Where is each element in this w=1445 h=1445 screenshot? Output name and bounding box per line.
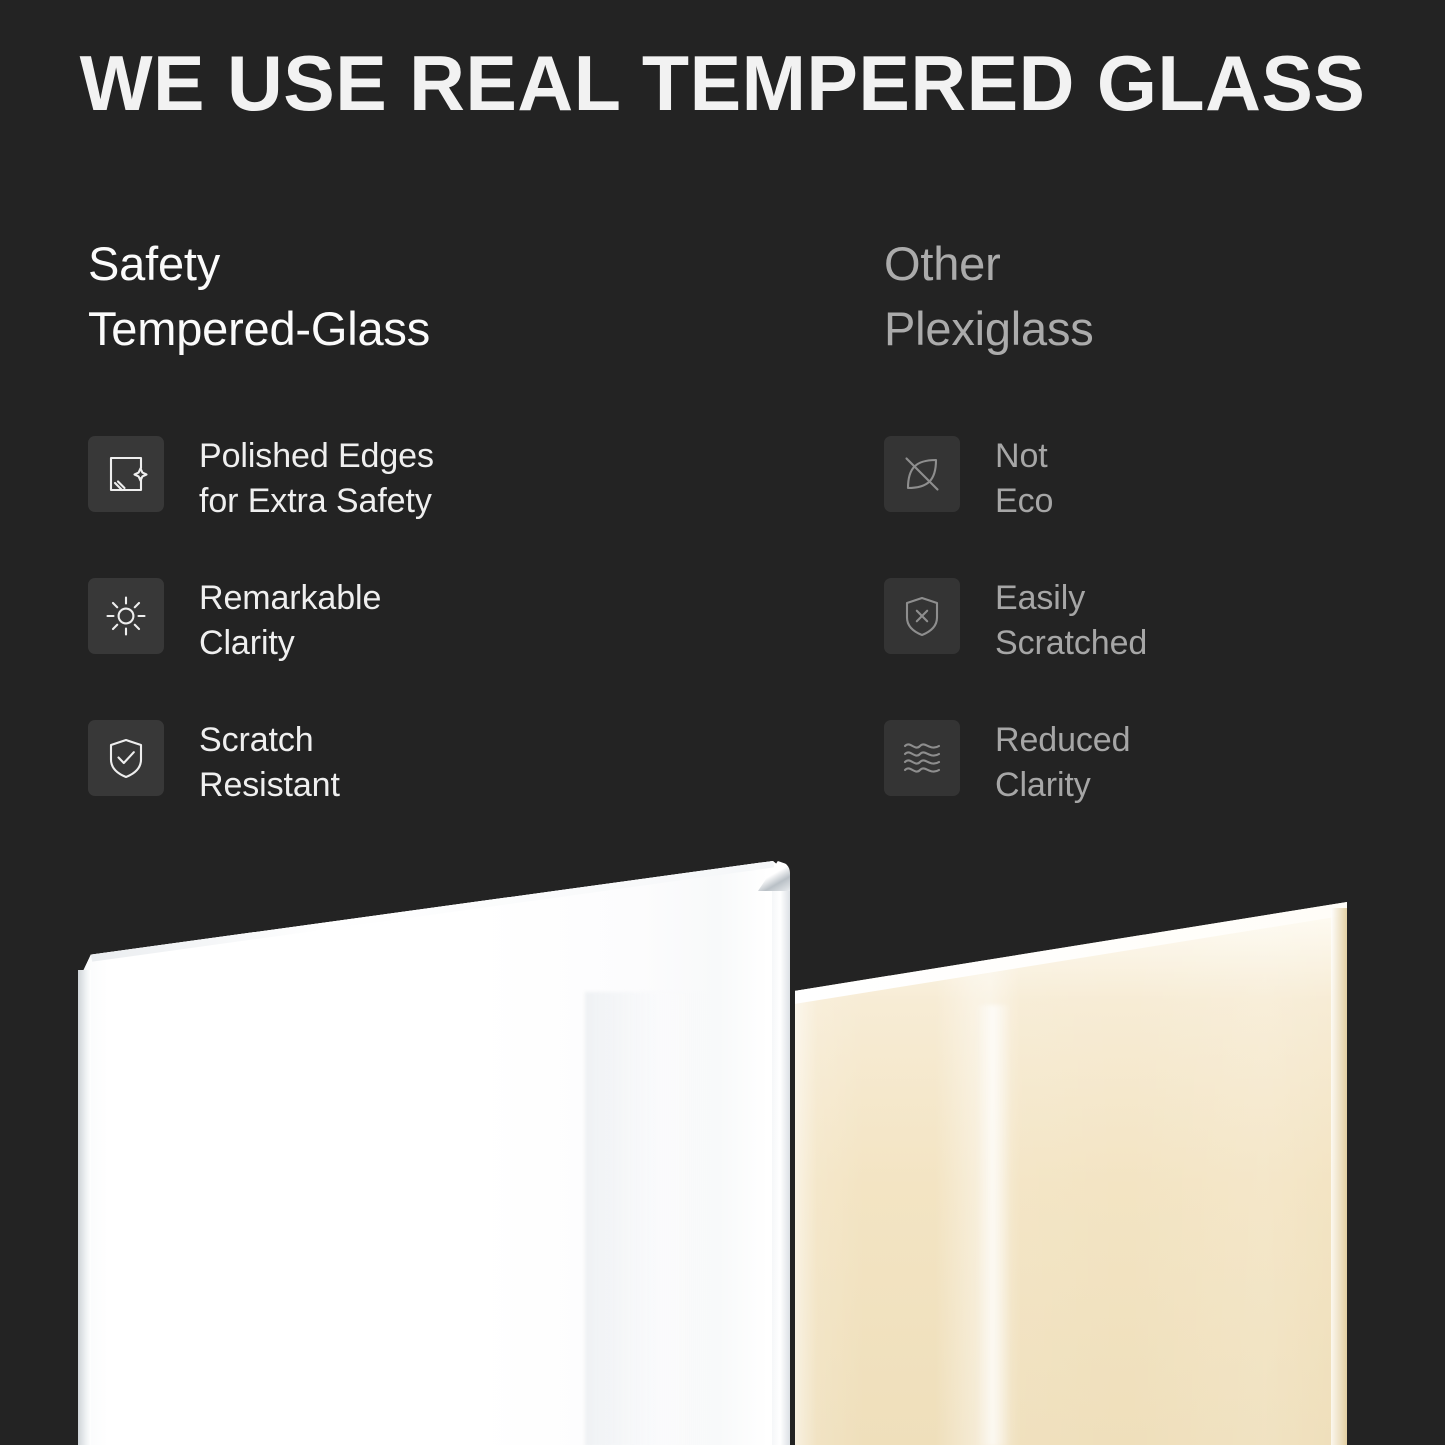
- feature-row-scratch-resistant: Scratch Resistant: [88, 716, 788, 858]
- feature-list-plexiglass: Not Eco Easily Scratched: [884, 432, 1424, 858]
- sun-clarity-icon: [88, 578, 164, 654]
- plexiglass-panel-right-edge: [1331, 908, 1347, 1445]
- shield-x-icon: [884, 578, 960, 654]
- polished-glass-pane-sparkle-icon: [88, 436, 164, 512]
- feature-list-safety: Polished Edges for Extra Safety Remarkab…: [88, 432, 788, 858]
- feature-row-reduced-clarity: Reduced Clarity: [884, 716, 1424, 858]
- feature-label-polished-edges: Polished Edges for Extra Safety: [199, 432, 434, 524]
- feature-label-not-eco: Not Eco: [995, 432, 1053, 524]
- tempered-glass-panel-reflection: [585, 992, 713, 1445]
- feature-row-remarkable-clarity: Remarkable Clarity: [88, 574, 788, 716]
- shield-check-icon: [88, 720, 164, 796]
- tempered-glass-panel-left-edge: [78, 970, 91, 1445]
- feature-label-reduced-clarity: Reduced Clarity: [995, 716, 1130, 808]
- glass-panels-photo: [0, 840, 1445, 1445]
- plexiglass-panel-reflection: [975, 1005, 1011, 1445]
- feature-row-easily-scratched: Easily Scratched: [884, 574, 1424, 716]
- feature-label-easily-scratched: Easily Scratched: [995, 574, 1147, 666]
- comparison-columns: Safety Tempered-Glass Polished Edges for…: [0, 0, 1445, 860]
- leaf-slash-not-eco-icon: [884, 436, 960, 512]
- feature-label-scratch-resistant: Scratch Resistant: [199, 716, 340, 808]
- feature-row-not-eco: Not Eco: [884, 432, 1424, 574]
- tempered-glass-panel-right-edge: [772, 876, 790, 1445]
- comparison-infographic: WE USE REAL TEMPERED GLASS Safety Temper…: [0, 0, 1445, 1445]
- column-title-other-plexiglass: Other Plexiglass: [884, 232, 1424, 362]
- column-other-plexiglass: Other Plexiglass Not Eco: [884, 232, 1424, 362]
- wavy-lines-distortion-icon: [884, 720, 960, 796]
- feature-label-remarkable-clarity: Remarkable Clarity: [199, 574, 381, 666]
- column-title-safety-tempered-glass: Safety Tempered-Glass: [88, 232, 788, 362]
- feature-row-polished-edges: Polished Edges for Extra Safety: [88, 432, 788, 574]
- column-safety-tempered-glass: Safety Tempered-Glass Polished Edges for…: [88, 232, 788, 362]
